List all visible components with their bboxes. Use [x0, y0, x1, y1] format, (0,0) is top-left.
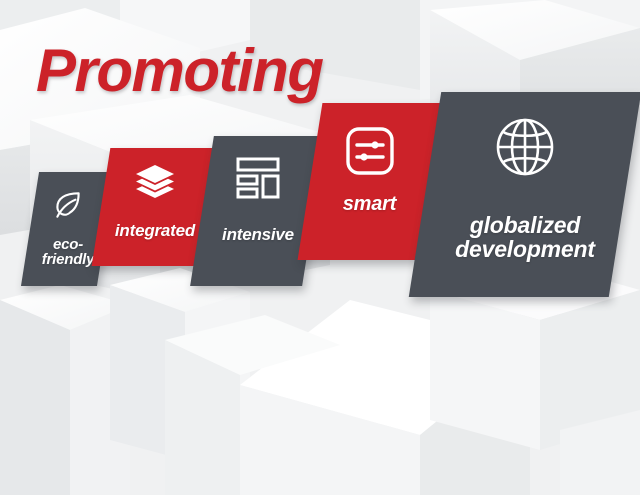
feature-panel-label: intensive	[222, 226, 294, 244]
page-title: Promoting	[36, 36, 322, 105]
feature-panel-label: smart	[343, 194, 396, 215]
layout-grid-icon	[236, 156, 280, 200]
globe-icon	[494, 116, 556, 178]
feature-panel-label: eco- friendly	[42, 237, 95, 269]
layers-icon	[135, 164, 175, 198]
feature-panel-label: globalized development	[455, 213, 595, 261]
promoting-banner: Promoting eco- friendly integrated	[0, 0, 640, 495]
leaf-icon	[51, 188, 85, 222]
feature-panel-globalized-development[interactable]: globalized development	[409, 92, 640, 297]
sliders-settings-icon	[344, 125, 396, 177]
feature-panel-label: integrated	[115, 222, 195, 240]
